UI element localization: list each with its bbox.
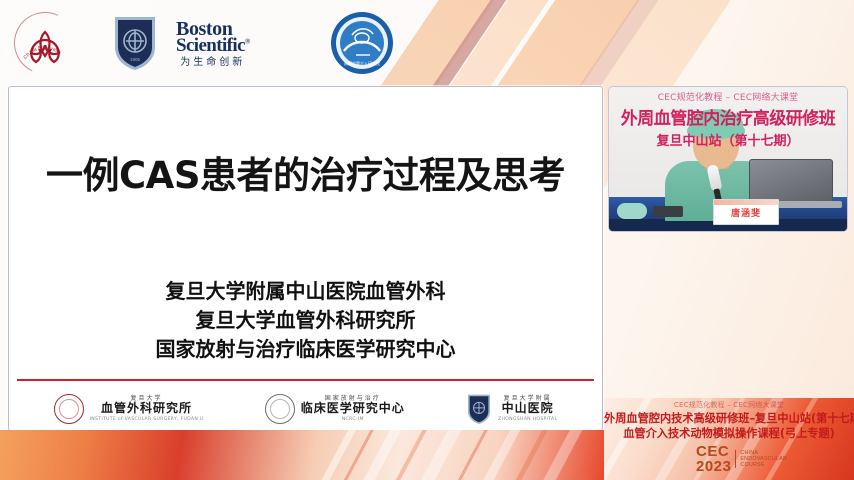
presentation-slide[interactable]: 一例CAS患者的治疗过程及思考 复旦大学附属中山医院血管外科 复旦大学血管外科研…: [8, 86, 603, 431]
event-title-block: CEC规范化教程 – CEC网络大课堂 外周血管腔内技术高级研修班–复旦中山站(…: [604, 398, 854, 480]
footer-logo-en: ZHONGSHAN HOSPITAL: [498, 417, 557, 422]
affiliation-line: 复旦大学附属中山医院血管外科: [9, 277, 602, 306]
footer-logo-main: 血管外科研究所: [90, 402, 204, 416]
slide-title: 一例CAS患者的治疗过程及思考: [9, 145, 602, 199]
cec-logo-en-line3: COURSE: [740, 462, 787, 468]
footer-logo-en: NCRC-IM: [301, 417, 405, 422]
event-title-line1: 外周血管腔内技术高级研修班–复旦中山站(第十七期): [604, 410, 854, 426]
cec-logo-text: CEC: [696, 444, 731, 459]
presenter-name: 唐涵斐: [731, 206, 761, 219]
cec-arc-text: C h i n a E n d o v a s c: [14, 14, 76, 76]
event-title-line2: 血管介入技术动物模拟操作课程(弓上专题): [604, 425, 854, 441]
video-overlay-line1: CEC规范化教程 – CEC网络大课堂: [609, 90, 847, 103]
cec-logo-year: 2023: [696, 459, 731, 474]
screen: C h i n a E n d o v a s c: [0, 0, 854, 480]
svg-text:1905: 1905: [130, 57, 141, 62]
footer-logo-main: 中山医院: [498, 402, 557, 416]
affiliation-line: 复旦大学血管外科研究所: [9, 306, 602, 335]
slide-divider: [17, 379, 594, 381]
laptop: [749, 159, 833, 203]
footer-logo-en: INSTITUTE of VASCULAR SURGERY, FUDAN U: [90, 417, 204, 422]
fudan-university-logo: 1905: [112, 8, 170, 78]
bottom-decor-band: [0, 430, 604, 480]
sponsor-logo-bar: C h i n a E n d o v a s c: [0, 0, 600, 86]
cec-2023-logo: CEC 2023 CHINA ENDOVASCULAR COURSE: [696, 444, 787, 474]
video-title-overlay: CEC规范化教程 – CEC网络大课堂 外周血管腔内治疗高级研修班 复旦中山站（…: [609, 87, 847, 149]
circular-emblem-icon: 周围血管介入研究院: [330, 11, 394, 75]
phone: [653, 206, 683, 217]
video-overlay-line3: 复旦中山站（第十七期）: [609, 130, 847, 149]
footer-logo-ncrc: 国家放射与治疗 临床医学研究中心 NCRC-IM: [265, 394, 405, 424]
face-mask: [617, 203, 647, 219]
slide-affiliations: 复旦大学附属中山医院血管外科 复旦大学血管外科研究所 国家放射与治疗临床医学研究…: [9, 277, 602, 364]
zhongshan-shield-icon: [466, 393, 492, 425]
footer-logo-zhongshan: 复旦大学附属 中山医院 ZHONGSHAN HOSPITAL: [466, 393, 557, 425]
shield-icon: 1905: [112, 14, 158, 72]
footer-logo-vascular-institute: 复旦大学 血管外科研究所 INSTITUTE of VASCULAR SURGE…: [54, 394, 204, 424]
footer-logo-main: 临床医学研究中心: [301, 402, 405, 416]
video-overlay-line2: 外周血管腔内治疗高级研修班: [609, 104, 847, 129]
fudan-seal-icon: [54, 394, 84, 424]
china-endovascular-course-icon: C h i n a E n d o v a s c: [14, 12, 76, 74]
slide-footer-logos: 复旦大学 血管外科研究所 INSTITUTE of VASCULAR SURGE…: [9, 386, 602, 431]
presenter-video-panel[interactable]: 唐涵斐 CEC规范化教程 – CEC网络大课堂 外周血管腔内治疗高级研修班 复旦…: [608, 86, 848, 232]
ncrc-seal-icon: [265, 394, 295, 424]
cec-logo: C h i n a E n d o v a s c: [14, 8, 104, 78]
svg-text:周围血管介入研究院: 周围血管介入研究院: [344, 60, 380, 66]
boston-scientific-logo: Boston Scientific® 为生命创新: [176, 8, 316, 78]
affiliation-line: 国家放射与治疗临床医学研究中心: [9, 335, 602, 364]
boston-scientific-tagline: 为生命创新: [176, 58, 250, 68]
boston-scientific-word2: Scientific®: [176, 36, 250, 55]
registered-icon: ®: [245, 37, 250, 45]
presenter-nameplate: 唐涵斐: [713, 199, 779, 225]
event-subtitle: CEC规范化教程 – CEC网络大课堂: [604, 400, 854, 410]
peripheral-interventional-institute-logo: 周围血管介入研究院: [330, 8, 400, 78]
